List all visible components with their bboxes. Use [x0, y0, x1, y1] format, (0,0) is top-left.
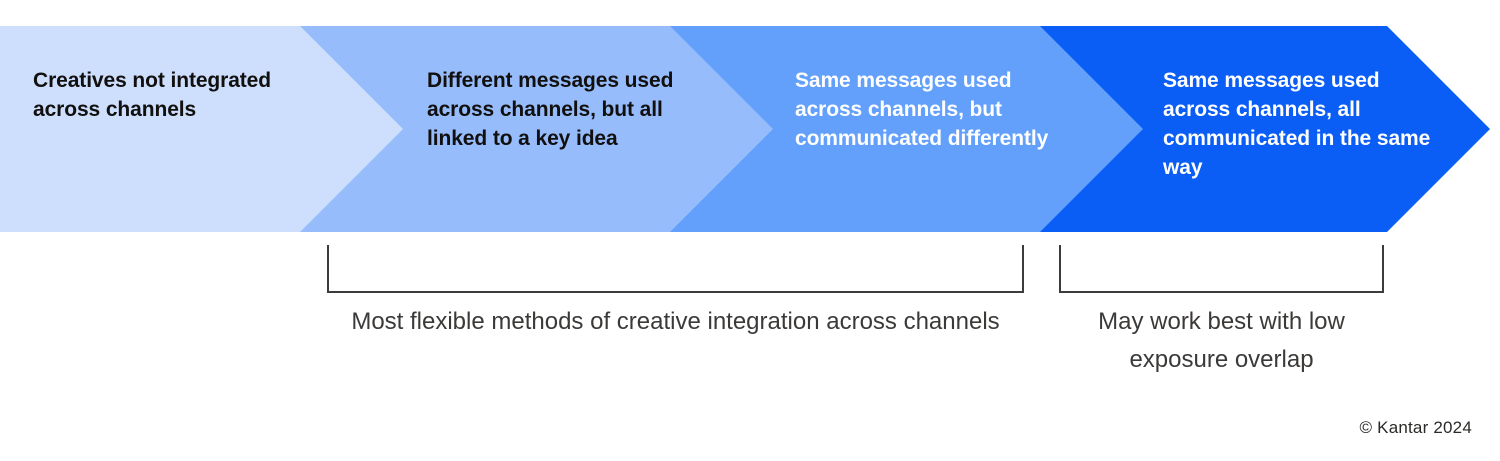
chevron-banner: Creatives not integrated across channels… [0, 26, 1500, 232]
chevron-label-3: Same messages used across channels, but … [795, 66, 1055, 153]
copyright-notice: © Kantar 2024 [1360, 418, 1472, 438]
bracket-right [1059, 245, 1384, 293]
bracket-left [327, 245, 1024, 293]
diagram-canvas: Creatives not integrated across channels… [0, 0, 1500, 461]
bracket-caption-right: May work best with low exposure overlap [1049, 303, 1394, 379]
bracket-caption-left: Most flexible methods of creative integr… [327, 303, 1024, 341]
chevron-label-1: Creatives not integrated across channels [33, 66, 283, 124]
chevron-label-4: Same messages used across channels, all … [1163, 66, 1433, 182]
chevron-label-2: Different messages used across channels,… [427, 66, 717, 153]
